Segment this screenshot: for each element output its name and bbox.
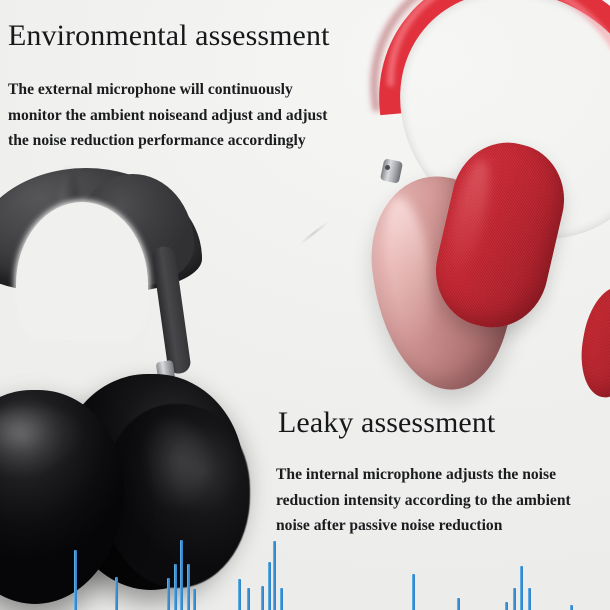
leaky-body-line-2: reduction intensity according to the amb… <box>276 488 571 514</box>
waveform-bar <box>280 588 283 610</box>
waveform-bar <box>193 589 196 610</box>
audio-waveform <box>0 540 610 610</box>
waveform-bar <box>505 602 508 610</box>
promo-banner: Environmental assessment The external mi… <box>0 0 610 610</box>
waveform-bar <box>238 579 241 610</box>
leaky-heading: Leaky assessment <box>278 406 495 440</box>
waveform-bar <box>247 588 250 610</box>
leaky-body-line-1: The internal microphone adjusts the nois… <box>276 462 571 488</box>
waveform-bar <box>528 588 531 610</box>
leaky-body-line-3: noise after passive noise reduction <box>276 513 571 539</box>
leaky-body: The internal microphone adjusts the nois… <box>276 462 571 539</box>
environmental-body-line-3: the noise reduction performance accordin… <box>8 128 327 154</box>
environmental-body: The external microphone will continuousl… <box>8 77 327 154</box>
waveform-bar <box>261 586 264 610</box>
red-stem <box>380 158 403 183</box>
waveform-bar <box>273 541 276 610</box>
waveform-bar <box>174 564 177 610</box>
waveform-bar <box>520 566 523 610</box>
black-earcup-highlight-secondary <box>122 420 218 550</box>
environmental-body-line-2: monitor the ambient noiseand adjust and … <box>8 103 327 129</box>
environmental-body-line-1: The external microphone will continuousl… <box>8 77 327 103</box>
red-stem-pivot <box>385 165 390 170</box>
waveform-bar <box>74 550 77 610</box>
waveform-bar <box>412 574 415 610</box>
waveform-bar <box>513 588 516 610</box>
waveform-bar <box>187 564 190 610</box>
red-headphones-image <box>368 0 610 392</box>
environmental-heading: Environmental assessment <box>8 19 330 53</box>
waveform-bar <box>180 540 183 610</box>
waveform-bar <box>167 578 170 610</box>
waveform-bar <box>268 562 271 610</box>
waveform-bar <box>570 605 573 610</box>
black-headphones-image <box>0 168 254 528</box>
waveform-bar <box>115 577 118 610</box>
waveform-bar <box>457 598 460 610</box>
